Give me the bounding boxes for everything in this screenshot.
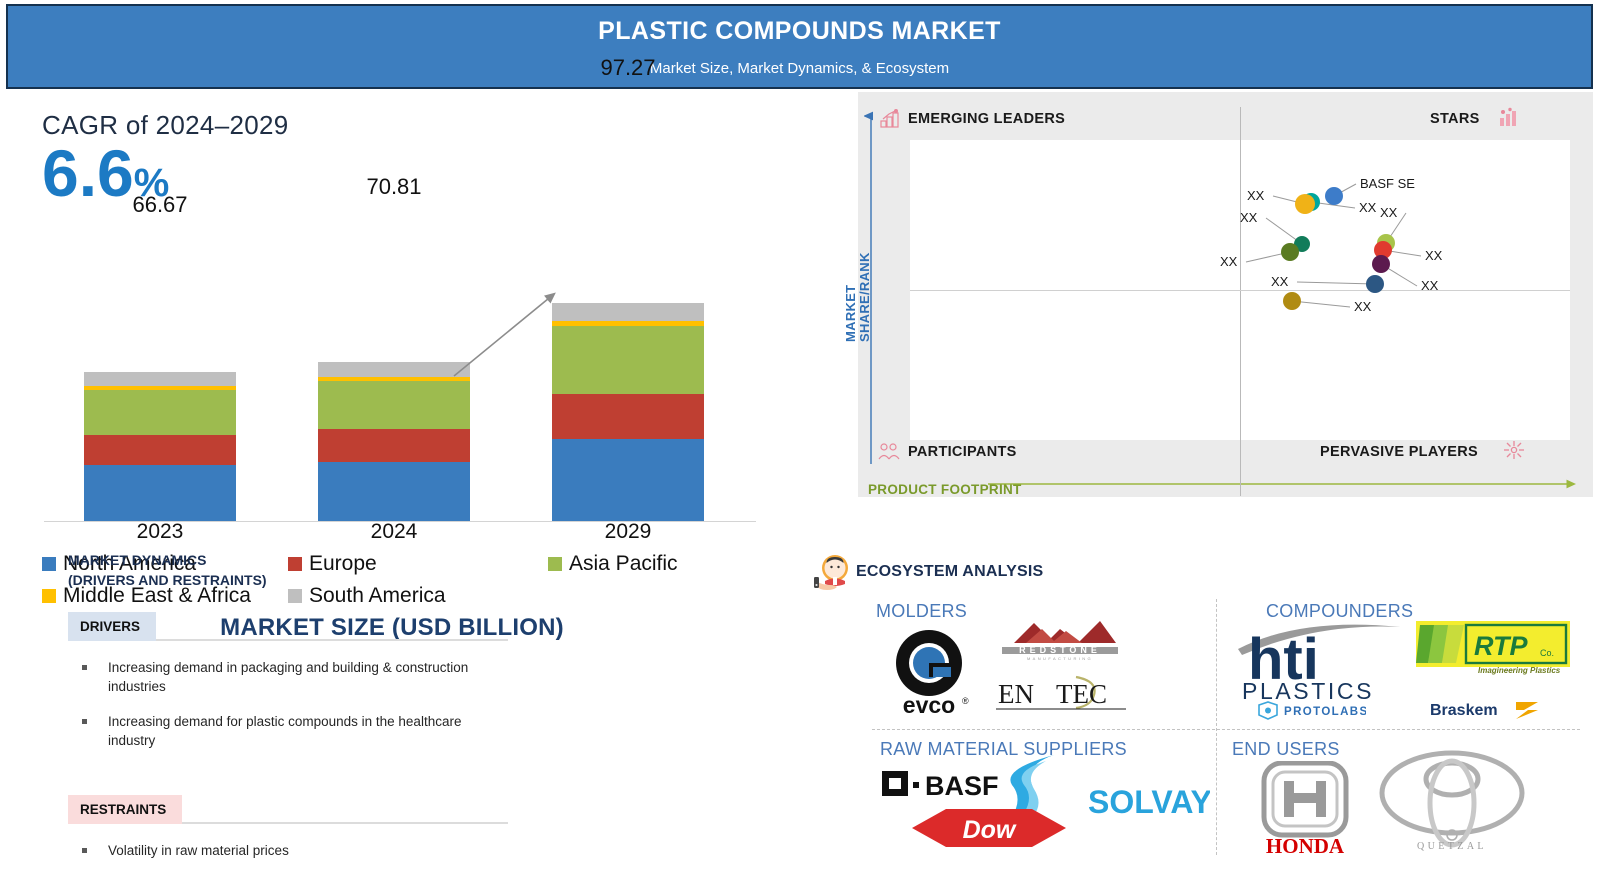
- quadrant-bubble-basf-se[interactable]: [1325, 187, 1343, 205]
- svg-text:PLASTICS: PLASTICS: [1242, 678, 1374, 701]
- x-label-2029: 2029: [552, 520, 704, 544]
- bar-total-label: 66.67: [84, 192, 236, 218]
- basf-logo: BASF: [882, 767, 1018, 801]
- market-dynamics-title-line1: MARKET DYNAMICS: [68, 550, 267, 570]
- bar-segment-asia-pacific: [552, 326, 704, 394]
- quadrant-bubble-company-3[interactable]: [1295, 194, 1315, 214]
- svg-text:TEC: TEC: [1056, 679, 1107, 709]
- bar-segment-europe: [318, 429, 470, 462]
- quadrant-label-participants: PARTICIPANTS: [908, 444, 1017, 460]
- ecosystem-category-raw-material-suppliers: RAW MATERIAL SUPPLIERS BASF SOLVAY Dow ®: [868, 735, 1216, 857]
- market-dynamics-title-line2: (DRIVERS AND RESTRAINTS): [68, 570, 267, 590]
- bar-segment-north-america: [318, 462, 470, 521]
- drivers-section: DRIVERS Increasing demand in packaging a…: [68, 612, 508, 751]
- legend-item-europe: Europe: [288, 552, 538, 576]
- bar-chart-star-icon: [1498, 107, 1520, 127]
- bubble-label-xx: XX: [1421, 278, 1438, 293]
- evco-logo: evco ®: [886, 625, 972, 717]
- bar-segment-north-america: [552, 439, 704, 521]
- bubble-label-xx: XX: [1425, 248, 1442, 263]
- market-dynamics-body: DRIVERS Increasing demand in packaging a…: [68, 612, 508, 876]
- page-title: PLASTIC COMPOUNDS MARKET: [598, 17, 1001, 46]
- bar-stack: [318, 362, 470, 521]
- svg-text:BASF: BASF: [925, 771, 999, 801]
- braskem-logo: Braskem: [1430, 699, 1554, 721]
- bar-segment-south-america: [318, 362, 470, 377]
- svg-text:Dow: Dow: [963, 816, 1017, 844]
- svg-text:EN: EN: [998, 679, 1034, 709]
- svg-text:HONDA: HONDA: [1266, 834, 1345, 857]
- rtp-logo: RTP Co. Imagineering Plastics: [1416, 619, 1570, 677]
- legend-swatch: [42, 557, 56, 571]
- bubble-label-xx: XX: [1240, 210, 1257, 225]
- bar-segment-europe: [84, 435, 236, 465]
- legend-label: Asia Pacific: [569, 552, 678, 576]
- bubble-label-xx: XX: [1220, 254, 1237, 269]
- quadrant-bubble-company-10[interactable]: [1283, 292, 1301, 310]
- svg-text:®: ®: [1048, 838, 1054, 846]
- legend-item-asia-pacific: Asia Pacific: [548, 552, 678, 576]
- bar-total-label: 97.27: [552, 55, 704, 81]
- growth-steps-icon: [880, 108, 902, 128]
- dow-logo: Dow ®: [912, 807, 1066, 849]
- ecosystem-category-label: END USERS: [1232, 739, 1340, 760]
- bar-total-label: 70.81: [318, 174, 470, 200]
- x-axis-label: PRODUCT FOOTPRINT: [868, 482, 1022, 497]
- svg-text:Co.: Co.: [1540, 648, 1554, 658]
- ecosystem-category-molders: MOLDERS evco ® REDSTONE MANUFACTURING EN: [868, 595, 1216, 727]
- quadrant-vertical-divider: [1240, 107, 1241, 496]
- legend-item-south-america: South America: [288, 584, 446, 608]
- bar-group-2029: 97.27: [552, 303, 704, 521]
- analyst-avatar-icon: [810, 553, 854, 593]
- page-header: PLASTIC COMPOUNDS MARKET Market Size, Ma…: [6, 4, 1593, 89]
- restraints-list: Volatility in raw material prices: [68, 842, 508, 861]
- x-label-2024: 2024: [318, 520, 470, 544]
- quadrant-label-pervasive-players: PERVASIVE PLAYERS: [1320, 444, 1478, 460]
- y-axis-label: MARKET SHARE/RANK: [844, 222, 871, 342]
- ecosystem-grid: MOLDERS evco ® REDSTONE MANUFACTURING EN: [868, 595, 1584, 857]
- bar-segment-south-america: [552, 303, 704, 321]
- quetzal-logo: QUETZAL: [1376, 749, 1528, 853]
- entec-logo: EN TEC: [994, 673, 1128, 715]
- ecosystem-vertical-separator: [1216, 599, 1217, 855]
- legend-swatch: [288, 557, 302, 571]
- bubble-label-xx: XX: [1271, 274, 1288, 289]
- bubble-label-xx: XX: [1359, 200, 1376, 215]
- svg-text:REDSTONE: REDSTONE: [1019, 645, 1101, 655]
- bullet-item: Increasing demand in packaging and build…: [68, 659, 508, 697]
- quadrant-bubble-company-5[interactable]: [1281, 243, 1299, 261]
- bubble-label-xx: XX: [1380, 205, 1397, 220]
- bar-segment-north-america: [84, 465, 236, 521]
- bullet-item: Increasing demand for plastic compounds …: [68, 713, 508, 751]
- ecosystem-panel: ECOSYSTEM ANALYSIS MOLDERS evco ® REDSTO…: [800, 545, 1590, 863]
- svg-text:MANUFACTURING: MANUFACTURING: [1027, 656, 1093, 661]
- legend-swatch: [288, 589, 302, 603]
- ecosystem-heading: ECOSYSTEM ANALYSIS: [856, 563, 1043, 581]
- bullet-item: Volatility in raw material prices: [68, 842, 508, 861]
- svg-text:Braskem: Braskem: [1430, 702, 1498, 719]
- x-label-2023: 2023: [84, 520, 236, 544]
- bar-segment-south-america: [84, 372, 236, 387]
- ecosystem-horizontal-separator: [872, 729, 1580, 730]
- svg-text:Imagineering Plastics: Imagineering Plastics: [1478, 666, 1561, 675]
- legend-label: South America: [309, 584, 446, 608]
- quadrant-horizontal-divider: [910, 290, 1570, 291]
- svg-text:SOLVAY: SOLVAY: [1088, 784, 1210, 820]
- drivers-tag: DRIVERS: [68, 612, 156, 641]
- y-axis-label-line2: SHARE/RANK: [857, 252, 872, 342]
- quadrant-bubble-company-8[interactable]: [1372, 255, 1390, 273]
- ecosystem-category-end-users: END USERS HONDA QUETZAL: [1224, 735, 1584, 857]
- quadrant-plot-area: [910, 140, 1570, 440]
- svg-text:QUETZAL: QUETZAL: [1417, 841, 1487, 852]
- burst-icon: [1503, 440, 1525, 460]
- svg-text:®: ®: [962, 696, 969, 706]
- restraints-tag: RESTRAINTS: [68, 795, 182, 824]
- bar-stack: [84, 372, 236, 521]
- svg-text:RTP: RTP: [1474, 631, 1529, 661]
- bar-group-2023: 66.67: [84, 372, 236, 521]
- bubble-label-xx: XX: [1247, 188, 1264, 203]
- protolabs-logo: PROTOLABS: [1256, 701, 1366, 721]
- bubble-label-xx: XX: [1354, 299, 1371, 314]
- bar-segment-asia-pacific: [84, 390, 236, 435]
- quadrant-label-stars: STARS: [1430, 111, 1480, 127]
- bar-stack: [552, 303, 704, 521]
- svg-text:PROTOLABS: PROTOLABS: [1284, 706, 1366, 718]
- hti-plastics-logo: hti PLASTICS: [1236, 615, 1404, 701]
- legend-swatch: [42, 589, 56, 603]
- drivers-list: Increasing demand in packaging and build…: [68, 659, 508, 751]
- honda-logo: HONDA: [1246, 761, 1364, 857]
- ecosystem-category-label: MOLDERS: [876, 601, 967, 622]
- quadrant-bubble-company-9[interactable]: [1366, 275, 1384, 293]
- bar-segment-europe: [552, 394, 704, 439]
- restraints-section: RESTRAINTS Volatility in raw material pr…: [68, 795, 508, 861]
- market-dynamics-title: MARKET DYNAMICS (DRIVERS AND RESTRAINTS): [68, 550, 267, 591]
- legend-label: Europe: [309, 552, 377, 576]
- ecosystem-category-compounders: COMPOUNDERS hti PLASTICS RTP Co. Imagine…: [1224, 595, 1584, 727]
- left-panel: CAGR of 2024–2029 6.6% 66.67 70.81 97.27…: [6, 92, 811, 862]
- legend-swatch: [548, 557, 562, 571]
- bubble-label-basf-se: BASF SE: [1360, 176, 1415, 191]
- bar-group-2024: 70.81: [318, 362, 470, 521]
- participants-icon: [878, 441, 900, 461]
- competitive-quadrant-panel: MARKET SHARE/RANK PRODUCT FOOTPRINT EMER…: [858, 92, 1593, 497]
- svg-text:evco: evco: [903, 692, 955, 717]
- bar-segment-asia-pacific: [318, 381, 470, 429]
- redstone-logo: REDSTONE MANUFACTURING: [996, 617, 1124, 661]
- market-size-bar-chart: 66.67 70.81 97.27: [36, 222, 756, 522]
- quadrant-label-emerging-leaders: EMERGING LEADERS: [908, 111, 1065, 127]
